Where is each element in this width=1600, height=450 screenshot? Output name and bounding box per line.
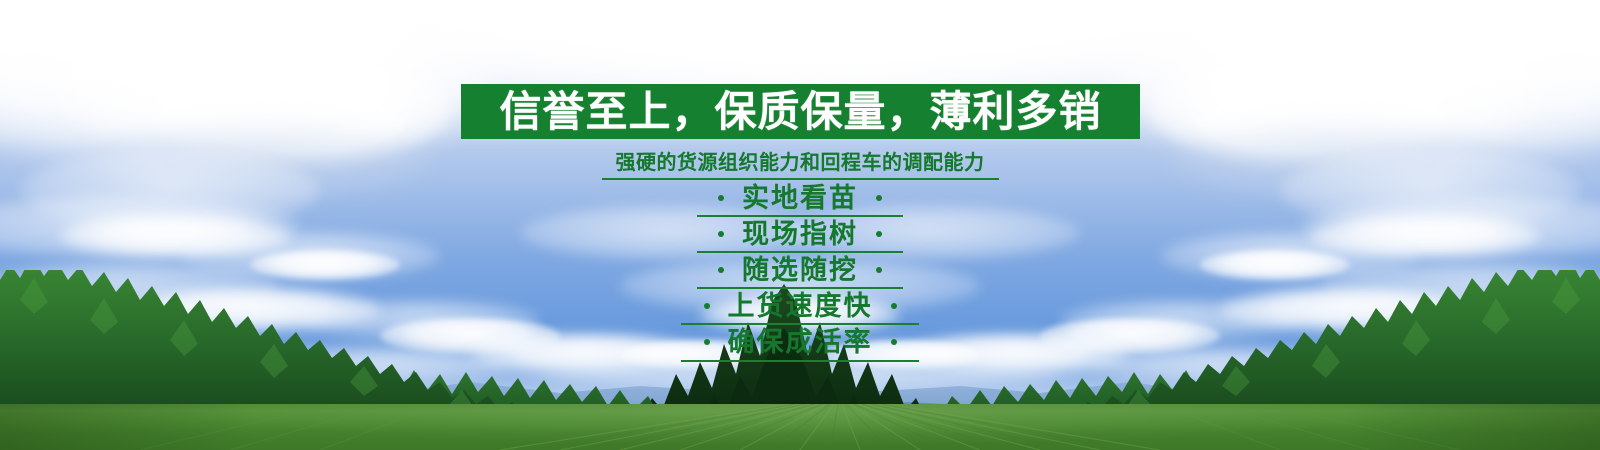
bullet-dot-icon (718, 195, 724, 201)
promo-banner: 信誉至上，保质保量，薄利多销 强硬的货源组织能力和回程车的调配能力 实地看苗 现… (0, 0, 1600, 450)
list-item-label: 实地看苗 (742, 185, 858, 212)
list-item: 现场指树 (0, 216, 1600, 252)
list-item: 确保成活率 (0, 324, 1600, 360)
list-item: 上货速度快 (0, 288, 1600, 324)
list-item-label: 确保成活率 (728, 329, 873, 356)
list-item-rule (681, 360, 919, 362)
bullet-dot-icon (876, 231, 882, 237)
list-item-label: 随选随挖 (742, 257, 858, 284)
bullet-dot-icon (704, 303, 710, 309)
bullet-dot-icon (876, 195, 882, 201)
bullet-dot-icon (891, 339, 897, 345)
list-item-label: 现场指树 (742, 221, 858, 248)
subtitle: 强硬的货源组织能力和回程车的调配能力 (0, 146, 1600, 180)
bullet-dot-icon (718, 231, 724, 237)
crop-furrows (0, 404, 1600, 450)
subtitle-text: 强硬的货源组织能力和回程车的调配能力 (602, 146, 999, 180)
feature-list: 实地看苗 现场指树 随选随挖 上货速度快 (0, 180, 1600, 360)
bullet-dot-icon (718, 267, 724, 273)
bullet-dot-icon (876, 267, 882, 273)
list-item: 实地看苗 (0, 180, 1600, 216)
headline-text: 信誉至上，保质保量，薄利多销 (499, 91, 1101, 133)
headline-band: 信誉至上，保质保量，薄利多销 (461, 84, 1140, 139)
bullet-dot-icon (891, 303, 897, 309)
bullet-dot-icon (704, 339, 710, 345)
list-item: 随选随挖 (0, 252, 1600, 288)
list-item-label: 上货速度快 (728, 293, 873, 320)
